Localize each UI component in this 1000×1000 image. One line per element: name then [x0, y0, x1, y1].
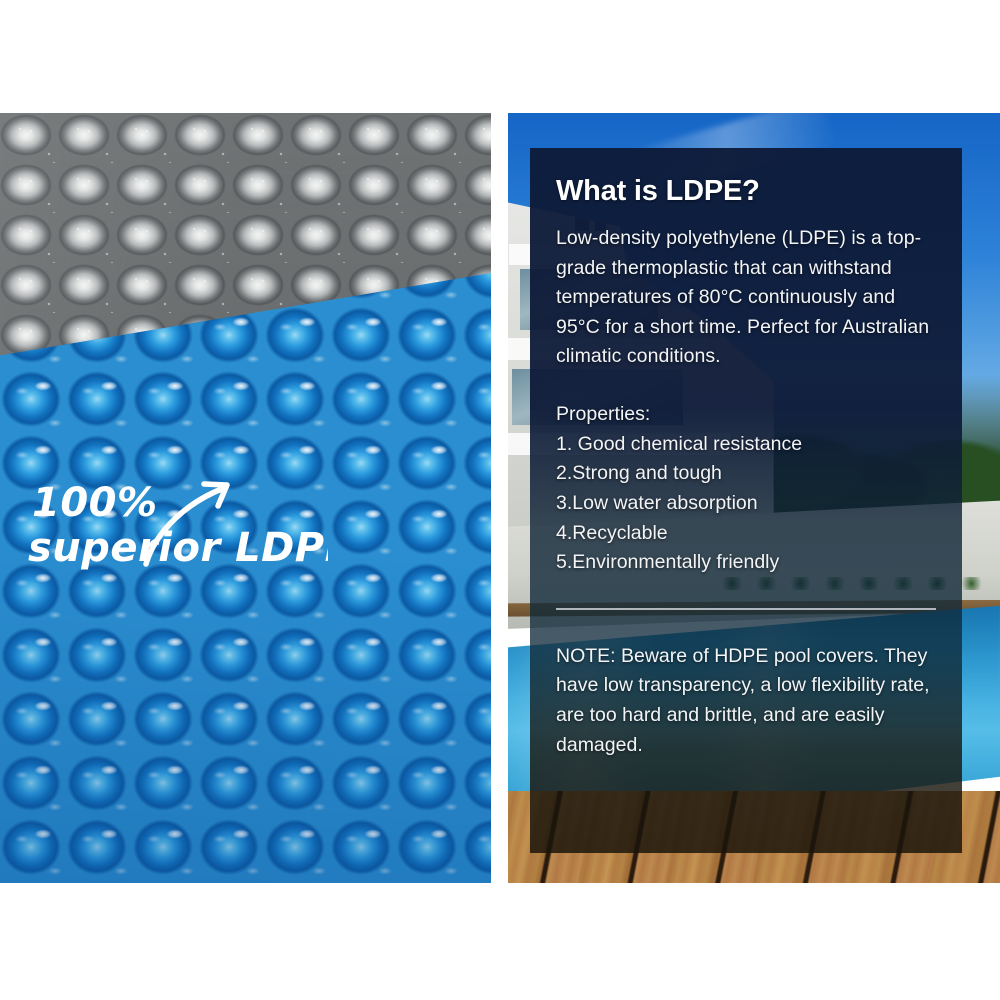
pool-scene-panel: What is LDPE? Low-density polyethylene (… — [508, 113, 1000, 883]
card-description: Low-density polyethylene (LDPE) is a top… — [556, 224, 936, 372]
property-item: 2.Strong and tough — [556, 459, 936, 489]
property-item: 5.Environmentally friendly — [556, 548, 936, 578]
card-divider — [556, 608, 936, 610]
property-item: 3.Low water absorption — [556, 489, 936, 519]
ldpe-info-card: What is LDPE? Low-density polyethylene (… — [530, 148, 962, 853]
property-item: 1. Good chemical resistance — [556, 430, 936, 460]
property-item: 4.Recyclable — [556, 519, 936, 549]
infographic-canvas: 100% superior LDPE — [0, 0, 1000, 1000]
material-photo-panel: 100% superior LDPE — [0, 113, 491, 883]
properties-heading: Properties: — [556, 400, 936, 430]
properties-list: 1. Good chemical resistance 2.Strong and… — [556, 430, 936, 578]
card-note: NOTE: Beware of HDPE pool covers. They h… — [556, 642, 936, 761]
card-title: What is LDPE? — [556, 176, 936, 208]
